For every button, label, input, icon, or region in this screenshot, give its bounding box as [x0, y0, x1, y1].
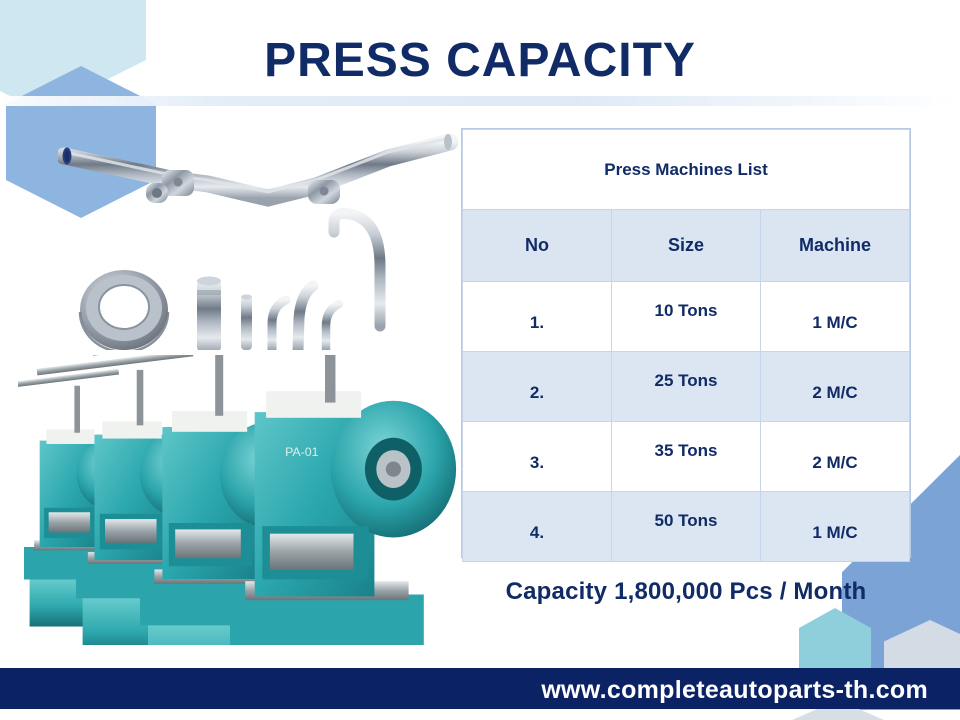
cell-size: 35 Tons: [612, 422, 761, 492]
cell-size: 25 Tons: [612, 352, 761, 422]
cell-machine: 2 M/C: [761, 352, 910, 422]
table-caption-row: Press Machines List: [463, 130, 910, 210]
svg-text:PA-01: PA-01: [285, 445, 319, 459]
column-header-no: No: [463, 210, 612, 282]
cell-no: 3.: [463, 422, 612, 492]
table-caption: Press Machines List: [463, 130, 910, 210]
cell-size: 10 Tons: [612, 282, 761, 352]
table-header-row: No Size Machine: [463, 210, 910, 282]
cell-no: 4.: [463, 492, 612, 562]
header-band: [0, 96, 960, 106]
table-row: 4. 50 Tons 1 M/C: [463, 492, 910, 562]
footer-website-url[interactable]: www.completeautoparts-th.com: [541, 676, 928, 705]
cell-no: 1.: [463, 282, 612, 352]
column-header-size: Size: [612, 210, 761, 282]
cell-machine: 2 M/C: [761, 422, 910, 492]
teal-punch-press-machines-photo: PA-01: [18, 355, 466, 645]
cell-machine: 1 M/C: [761, 282, 910, 352]
press-machines-table: Press Machines List No Size Machine 1. 1…: [461, 128, 911, 558]
cell-no: 2.: [463, 352, 612, 422]
table-row: 2. 25 Tons 2 M/C: [463, 352, 910, 422]
capacity-note: Capacity 1,800,000 Pcs / Month: [461, 578, 911, 606]
table-row: 3. 35 Tons 2 M/C: [463, 422, 910, 492]
cell-size: 50 Tons: [612, 492, 761, 562]
column-header-machine: Machine: [761, 210, 910, 282]
page-title: PRESS CAPACITY: [0, 34, 960, 88]
cell-machine: 1 M/C: [761, 492, 910, 562]
chrome-auto-parts-photo: [58, 128, 462, 350]
table-row: 1. 10 Tons 1 M/C: [463, 282, 910, 352]
slide-canvas: PRESS CAPACITY: [0, 0, 960, 720]
